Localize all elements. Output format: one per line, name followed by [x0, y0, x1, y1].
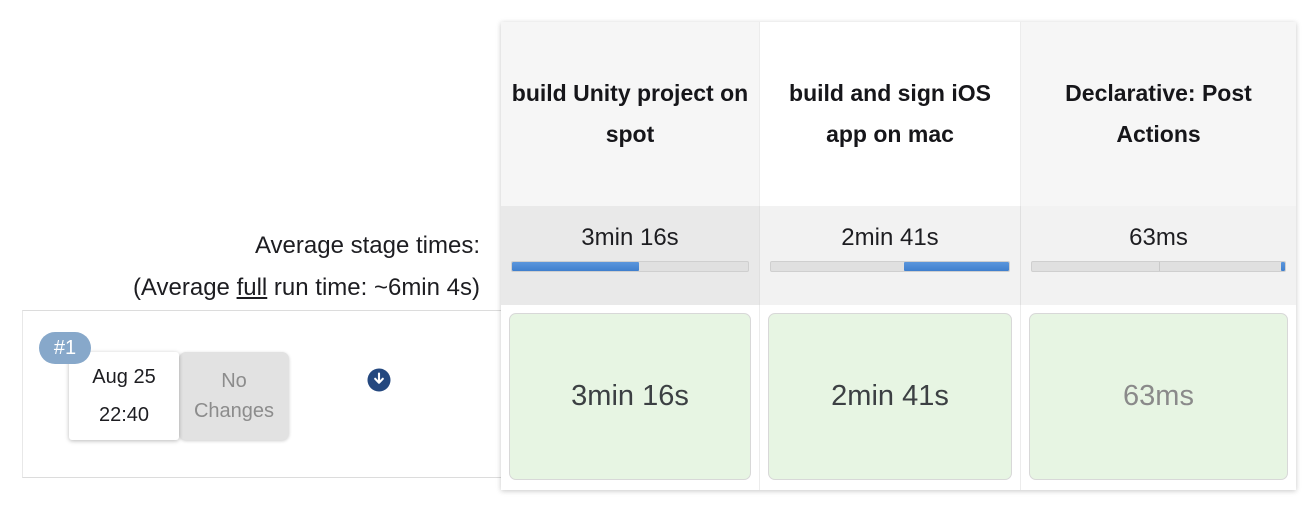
average-bar-fill — [904, 262, 1009, 271]
download-circle-icon[interactable] — [366, 367, 392, 393]
average-cell-0: 3min 16s — [501, 206, 759, 305]
stage-cell-wrap: 2min 41s — [759, 305, 1020, 490]
stage-header-label: build and sign iOS app on mac — [759, 22, 1020, 206]
stage-cell-1: 2min 41s — [759, 305, 1020, 490]
average-stage-times-label: Average stage times: — [0, 225, 480, 267]
stage-cell-2: 63ms — [1020, 305, 1296, 490]
average-bar-fill — [1281, 262, 1285, 271]
run-changes-button[interactable]: No Changes — [179, 352, 289, 440]
average-value: 2min 41s — [841, 222, 938, 254]
build-stage-view: Average stage times: (Average full run t… — [0, 0, 1316, 522]
average-bar-track — [1031, 261, 1286, 272]
average-bar-tick — [1159, 262, 1160, 271]
runs-list: #1 Aug 25 22:40 No Changes — [22, 310, 501, 478]
average-full-run-prefix: (Average — [133, 274, 237, 301]
average-value: 63ms — [1129, 222, 1188, 254]
run-time: 22:40 — [99, 400, 149, 430]
stage-header-label: build Unity project on spot — [501, 22, 759, 206]
average-times-labels: Average stage times: (Average full run t… — [0, 225, 480, 309]
average-cell-1: 2min 41s — [759, 206, 1020, 305]
stage-table: build Unity project on spot build and si… — [501, 22, 1296, 490]
stage-duration-box[interactable]: 3min 16s — [509, 313, 751, 480]
stage-duration-box[interactable]: 63ms — [1029, 313, 1288, 480]
average-cell-2: 63ms — [1020, 206, 1296, 305]
average-bar-track — [511, 261, 749, 272]
average-full-run-suffix: run time: ~6min 4s) — [267, 274, 480, 301]
run-date: Aug 25 — [92, 362, 155, 392]
run-number-badge[interactable]: #1 — [39, 332, 91, 364]
average-full-run-time-label: (Average full run time: ~6min 4s) — [0, 267, 480, 309]
stage-duration-box[interactable]: 2min 41s — [768, 313, 1012, 480]
stage-cell-0: 3min 16s — [501, 305, 759, 490]
average-cell-body: 63ms — [1020, 206, 1296, 305]
run-row[interactable]: #1 Aug 25 22:40 No Changes — [23, 311, 501, 477]
left-panel: Average stage times: (Average full run t… — [0, 0, 501, 522]
average-value: 3min 16s — [581, 222, 678, 254]
run-stage-row: 3min 16s 2min 41s 63ms — [501, 305, 1296, 490]
stage-cell-wrap: 63ms — [1020, 305, 1296, 490]
average-times-row: 3min 16s 2min 41s 63ms — [501, 206, 1296, 305]
average-bar-track — [770, 261, 1010, 272]
stage-column-1: build and sign iOS app on mac — [759, 22, 1020, 206]
stage-cell-wrap: 3min 16s — [501, 305, 759, 490]
run-date-card[interactable]: Aug 25 22:40 — [69, 352, 179, 440]
average-bar-fill — [512, 262, 639, 271]
stage-column-2: Declarative: Post Actions — [1020, 22, 1296, 206]
average-cell-body: 2min 41s — [759, 206, 1020, 305]
average-full-run-emphasis: full — [237, 274, 268, 301]
stage-column-0: build Unity project on spot — [501, 22, 759, 206]
stage-header-label: Declarative: Post Actions — [1020, 22, 1296, 206]
stage-header-row: build Unity project on spot build and si… — [501, 22, 1296, 206]
average-cell-body: 3min 16s — [501, 206, 759, 305]
